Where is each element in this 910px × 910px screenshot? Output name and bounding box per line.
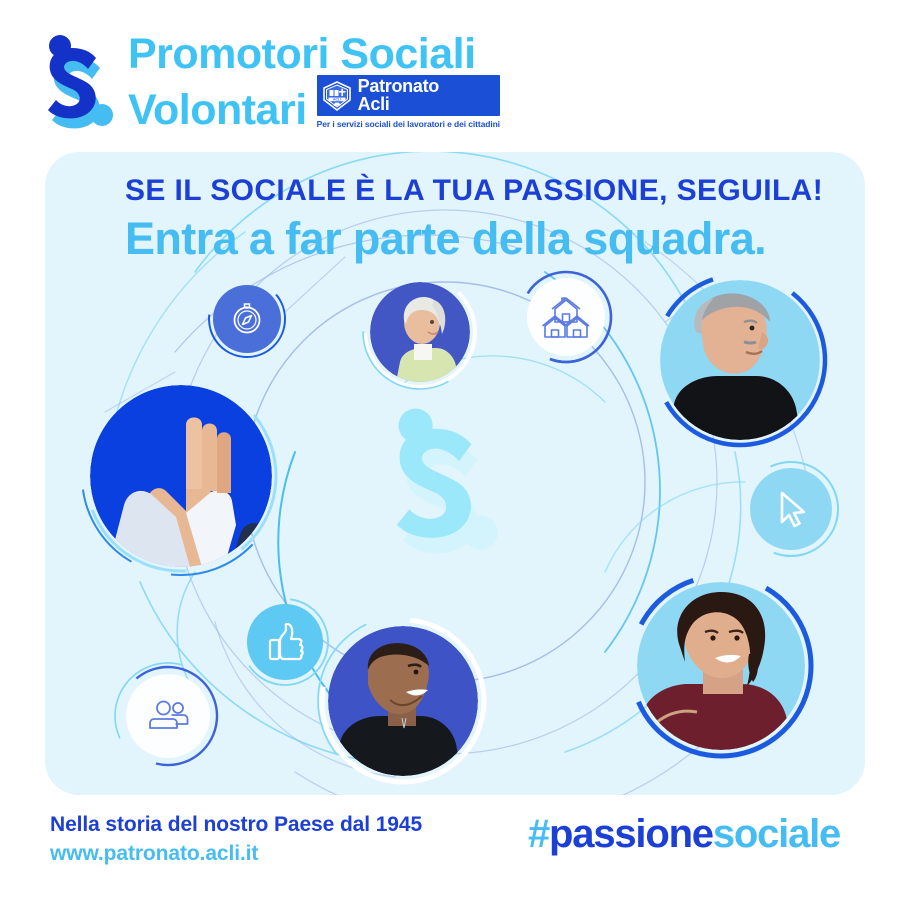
acli-wordmark: Patronato Acli: [358, 79, 439, 112]
psv-watermark-icon: [397, 409, 498, 554]
ring-compass: [205, 277, 289, 361]
hashtag-word-light: sociale: [713, 812, 840, 856]
patronato-acli-logo[interactable]: ACLI Patronato Acli Per i servizi social…: [317, 75, 500, 129]
ring-thumbsup: [237, 594, 333, 690]
ring-young-man: [317, 615, 489, 787]
ring-houses: [516, 267, 616, 367]
acli-word-line-1: Patronato: [358, 79, 439, 94]
headline-kicker: SE IL SOCIALE È LA TUA PASSIONE, SEGUILA…: [125, 174, 823, 208]
footer-tagline: Nella storia del nostro Paese dal 1945: [50, 813, 422, 837]
ring-highfive: [81, 376, 281, 576]
poster-canvas: Promotori Sociali Volontari: [0, 0, 910, 910]
brand-line-2: Volontari: [128, 90, 307, 131]
footer-text-block: Nella storia del nostro Paese dal 1945 w…: [50, 813, 422, 866]
hashtag-word-dark: passione: [549, 812, 713, 856]
hashtag-symbol: #: [528, 812, 549, 856]
headline-block: SE IL SOCIALE È LA TUA PASSIONE, SEGUILA…: [125, 174, 823, 266]
ring-senior-woman: [361, 273, 479, 391]
ring-cursor: [739, 457, 843, 561]
brand-line-1: Promotori Sociali: [128, 34, 500, 75]
headline-subhead: Entra a far parte della squadra.: [125, 212, 823, 266]
svg-text:ACLI: ACLI: [333, 97, 341, 101]
ring-people: [114, 662, 222, 770]
brand-header: Promotori Sociali Volontari: [48, 34, 500, 131]
footer-website-link[interactable]: www.patronato.acli.it: [50, 842, 422, 866]
acli-shield-icon: ACLI: [322, 81, 352, 111]
campaign-hashtag[interactable]: #passionesociale: [528, 812, 840, 857]
acli-word-line-2: Acli: [358, 97, 439, 112]
acli-tagline: Per i servizi sociali dei lavoratori e d…: [317, 119, 500, 129]
acli-badge: ACLI Patronato Acli: [317, 75, 500, 116]
psv-double-s-logo-icon: [48, 34, 114, 130]
brand-text-block: Promotori Sociali Volontari: [128, 34, 500, 131]
ring-young-woman: [626, 571, 816, 761]
main-card: SE IL SOCIALE È LA TUA PASSIONE, SEGUILA…: [45, 152, 865, 795]
ring-senior-man: [651, 271, 829, 449]
